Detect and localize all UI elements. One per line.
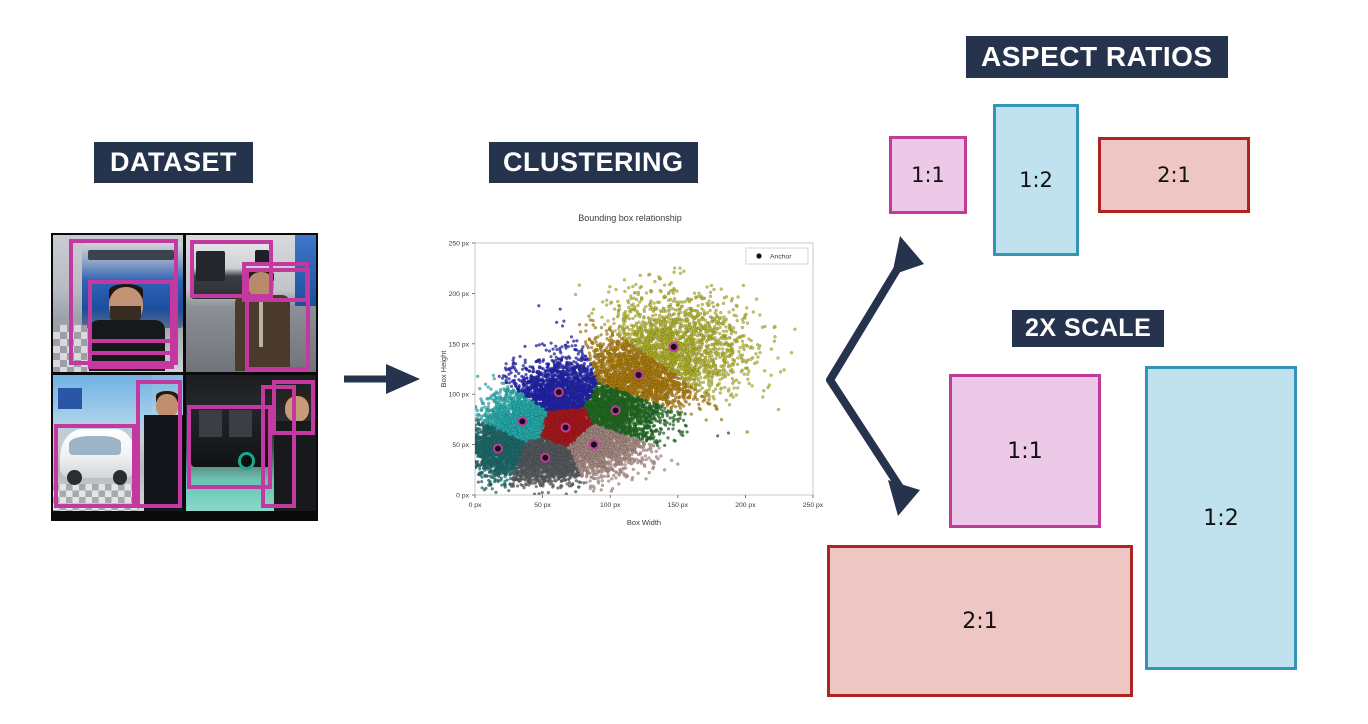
dataset-photo-man-standing-shuttle [186, 235, 316, 372]
clustering-section-label: CLUSTERING [489, 142, 698, 183]
aspect-ratio-box-1-2: 1:2 [993, 104, 1079, 256]
infographic-canvas: DATASET CLUSTERING ASPECT RATIOS 2X SCAL… [0, 0, 1368, 724]
scaled-ratio-box-1-1: 1:1 [949, 374, 1101, 528]
chart-svg: 0 px50 px100 px150 px200 px250 px0 px50 … [435, 205, 825, 535]
arrow-dataset-to-clustering [342, 358, 428, 400]
aspect-ratio-box-2-1: 2:1 [1098, 137, 1250, 213]
aspect-ratio-box-1-1: 1:1 [889, 136, 967, 214]
scaled-ratio-box-1-2: 1:2 [1145, 366, 1297, 670]
arrow-branch-to-ratios [812, 228, 952, 528]
2x-scale-section-label: 2X SCALE [1012, 310, 1164, 347]
aspect-ratios-section-label: ASPECT RATIOS [966, 36, 1228, 78]
scaled-ratio-box-2-1: 2:1 [827, 545, 1133, 697]
clustering-scatter-plot: Bounding box relationship 0 px50 px100 p… [435, 205, 825, 535]
dataset-photo-white-selfdriving-car [53, 375, 183, 512]
dataset-photo-grid [51, 233, 318, 521]
dataset-section-label: DATASET [94, 142, 253, 183]
dataset-photo-green-bus-profile [186, 375, 316, 512]
dataset-photo-selfie-blue-shuttle [53, 235, 183, 372]
